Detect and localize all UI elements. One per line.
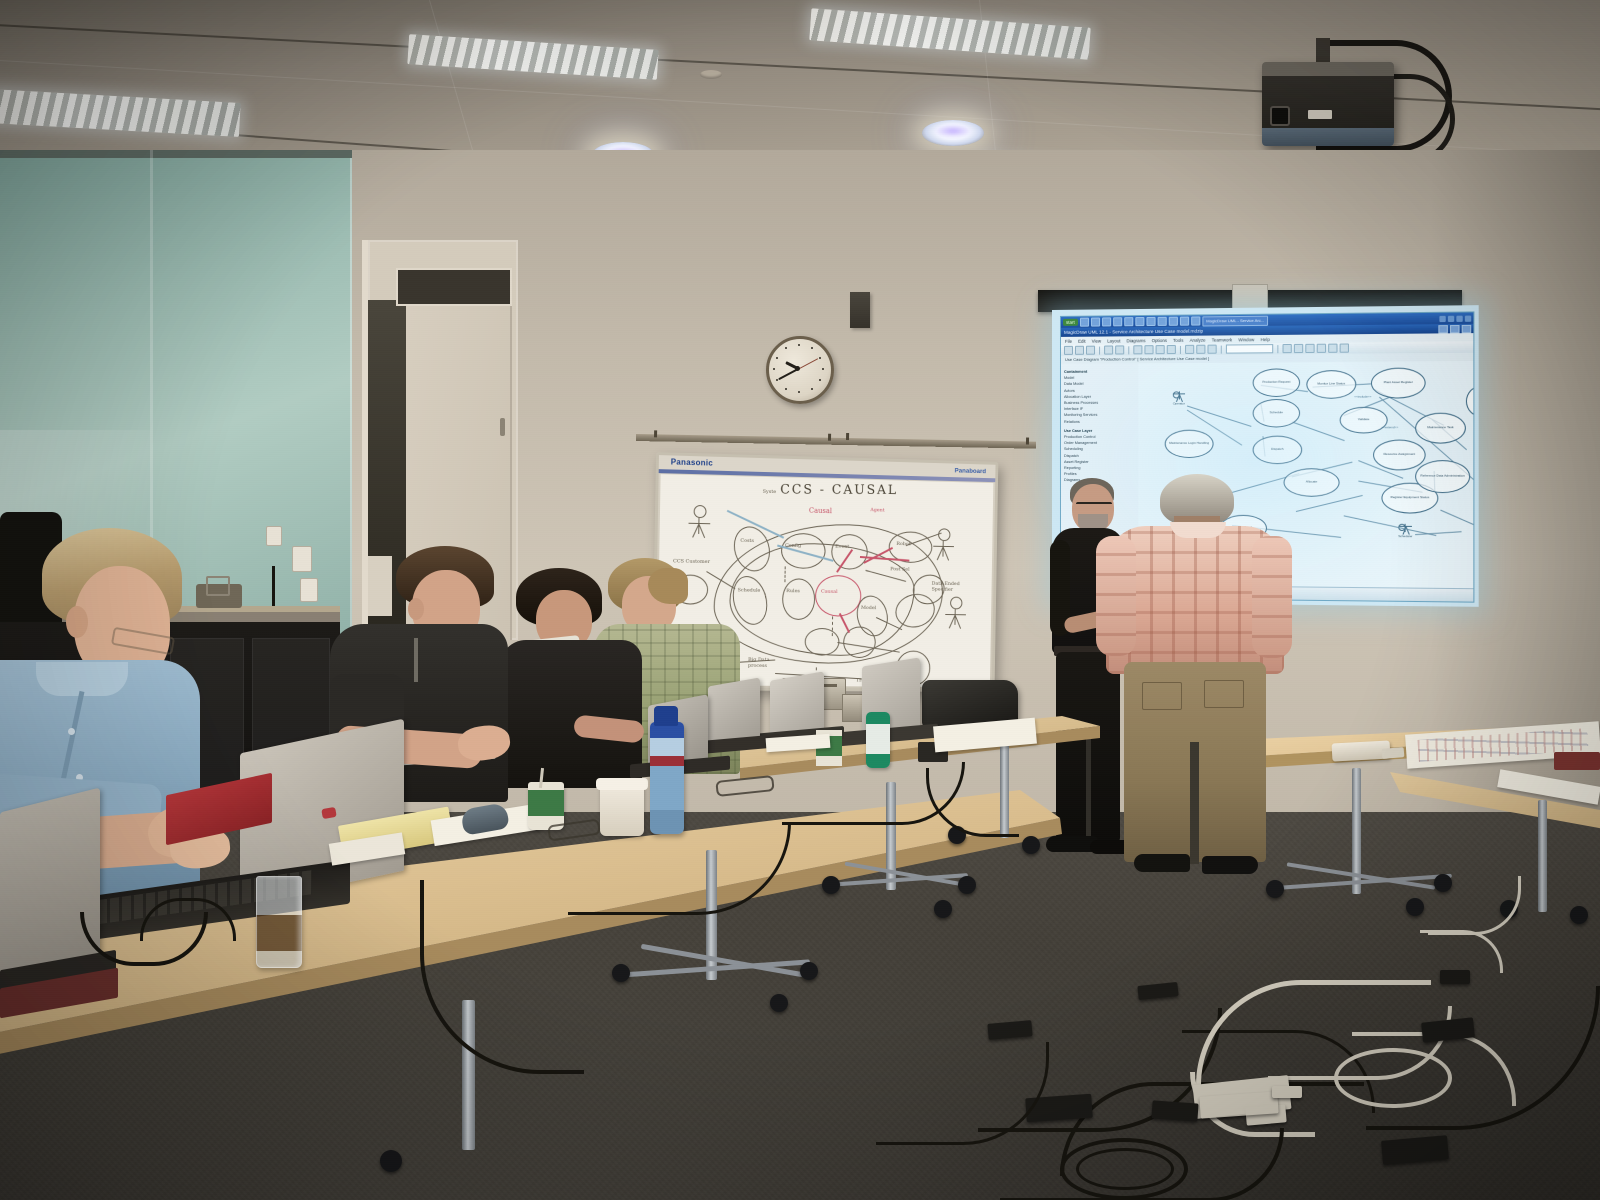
uml-use-case[interactable]: Report bbox=[1466, 386, 1473, 417]
uml-use-case[interactable]: Dispatch bbox=[1253, 436, 1303, 465]
sketch-label-red: Agent bbox=[870, 507, 884, 513]
menu-item-window[interactable]: Window bbox=[1238, 337, 1254, 342]
sketch-actor bbox=[950, 597, 966, 630]
table-caster bbox=[822, 876, 840, 894]
wall-clock bbox=[766, 336, 834, 404]
quicklaunch-icon[interactable] bbox=[1113, 317, 1122, 326]
green-drink-bottle[interactable] bbox=[866, 712, 890, 768]
cut-icon[interactable] bbox=[1133, 345, 1142, 354]
use-case-label: Dispatch bbox=[1271, 448, 1283, 452]
window-title: MagicDraw UML 12.1 - Service Architectur… bbox=[1064, 329, 1203, 335]
quicklaunch-icon[interactable] bbox=[1102, 317, 1111, 326]
sketch-label: Robot bbox=[896, 541, 910, 547]
table-caster bbox=[800, 962, 818, 980]
menu-item-help[interactable]: Help bbox=[1261, 337, 1270, 342]
window-controls[interactable] bbox=[1438, 325, 1471, 334]
quicklaunch-icon[interactable] bbox=[1146, 317, 1155, 326]
uml-use-case[interactable]: Maintenance Login Handling bbox=[1165, 430, 1214, 458]
undo-icon[interactable] bbox=[1104, 345, 1113, 354]
meeting-room-photo: start MagicDraw UML - Service Arc... bbox=[0, 0, 1600, 1200]
wall-socket[interactable] bbox=[266, 526, 282, 546]
use-case-label: Reference Data Administration bbox=[1420, 475, 1464, 479]
redo-icon[interactable] bbox=[1115, 345, 1124, 354]
menu-item-teamwork[interactable]: Teamwork bbox=[1212, 337, 1232, 342]
print-icon[interactable] bbox=[1340, 343, 1349, 352]
torso-black-vneck bbox=[500, 640, 642, 788]
whiteboard-sketch-title: CCS - CAUSAL bbox=[780, 483, 898, 498]
sketch-label: Event bbox=[835, 544, 849, 550]
power-plug bbox=[1382, 747, 1405, 759]
uml-use-case[interactable]: Reference Data Administration bbox=[1415, 460, 1470, 493]
line-style-icon[interactable] bbox=[1283, 344, 1292, 353]
uml-actor[interactable]: Operator bbox=[1173, 391, 1185, 405]
minimize-icon[interactable] bbox=[1438, 325, 1448, 333]
copy-icon[interactable] bbox=[1144, 345, 1153, 354]
arm-left bbox=[1096, 536, 1136, 656]
zoom-out-icon[interactable] bbox=[1196, 345, 1205, 354]
uml-use-case[interactable]: Plant Asset Register bbox=[1371, 368, 1426, 399]
menu-item-diagrams[interactable]: Diagrams bbox=[1127, 338, 1146, 343]
tray-icon[interactable] bbox=[1448, 315, 1454, 321]
tray-icon[interactable] bbox=[1465, 315, 1471, 321]
menu-item-edit[interactable]: Edit bbox=[1078, 338, 1086, 343]
menu-item-analyze[interactable]: Analyze bbox=[1190, 337, 1206, 342]
glass-partition-head-rail bbox=[0, 150, 352, 158]
toolbar-separator bbox=[1221, 345, 1222, 353]
fluorescent-troffer bbox=[0, 89, 241, 137]
grid-icon[interactable] bbox=[1328, 344, 1337, 353]
tray-icon[interactable] bbox=[1456, 315, 1462, 321]
ceiling-downlight bbox=[922, 120, 984, 146]
toolbar-separator bbox=[1128, 346, 1129, 354]
table-caster bbox=[612, 964, 630, 982]
menu-item-view[interactable]: View bbox=[1092, 338, 1101, 343]
trouser-pocket bbox=[1204, 680, 1244, 708]
zoom-in-icon[interactable] bbox=[1185, 345, 1194, 354]
sketch-dashed bbox=[832, 616, 835, 636]
fill-color-icon[interactable] bbox=[1294, 344, 1303, 353]
table-caster bbox=[770, 994, 788, 1012]
sketch-label: Rules bbox=[786, 588, 800, 594]
power-adapter bbox=[1151, 1100, 1198, 1121]
sketch-actor bbox=[693, 505, 710, 539]
use-case-label: Plant Asset Register bbox=[1384, 381, 1413, 385]
sketch-label: Syste bbox=[763, 489, 777, 495]
door-transom-window bbox=[396, 268, 512, 306]
uml-actor-label: Scheduler bbox=[1398, 534, 1412, 538]
floor-connector bbox=[1272, 1086, 1302, 1098]
sketch-label: Post Sel bbox=[890, 566, 909, 572]
sketch-dashed bbox=[784, 566, 787, 582]
sketch-label-red: Causal bbox=[821, 589, 838, 595]
fluorescent-troffer bbox=[809, 8, 1091, 59]
table-leg bbox=[1538, 800, 1547, 912]
menu-item-layout[interactable]: Layout bbox=[1107, 338, 1120, 343]
close-icon[interactable] bbox=[1462, 325, 1472, 333]
table-caster bbox=[934, 900, 952, 918]
toolbar-separator bbox=[1099, 346, 1100, 354]
quicklaunch-icon[interactable] bbox=[1135, 317, 1144, 326]
quicklaunch-icon[interactable] bbox=[1124, 317, 1133, 326]
ear bbox=[408, 598, 424, 620]
system-tray[interactable] bbox=[1439, 315, 1471, 322]
shoe bbox=[1134, 854, 1190, 872]
menu-item-options[interactable]: Options bbox=[1152, 337, 1167, 342]
table-caster bbox=[1022, 836, 1040, 854]
wall-speaker bbox=[850, 292, 870, 328]
start-button[interactable]: start bbox=[1063, 319, 1078, 326]
use-case-label: Register Equipment Status bbox=[1390, 496, 1429, 500]
shoe bbox=[1202, 856, 1258, 874]
polo-placket bbox=[414, 638, 418, 682]
font-icon[interactable] bbox=[1305, 344, 1314, 353]
toolbar-separator bbox=[1180, 345, 1181, 353]
uml-use-case[interactable]: Schedule bbox=[1253, 399, 1301, 428]
hair-fringe bbox=[648, 568, 688, 604]
use-case-label: Allocate bbox=[1306, 481, 1317, 485]
align-icon[interactable] bbox=[1317, 344, 1326, 353]
table-caster bbox=[958, 876, 976, 894]
laptop-lid[interactable] bbox=[0, 788, 100, 983]
sketch-label-red: Causal bbox=[809, 508, 832, 514]
standing-presenter-plaid-shirt bbox=[1096, 474, 1292, 904]
delete-icon[interactable] bbox=[1167, 345, 1176, 354]
fit-page-icon[interactable] bbox=[1207, 345, 1216, 354]
taskbar-window-button[interactable]: MagicDraw UML - Service Arc... bbox=[1202, 315, 1268, 326]
sketch-label: Schedule bbox=[737, 587, 760, 593]
quicklaunch-icon[interactable] bbox=[1169, 317, 1178, 326]
floor-cable-coil bbox=[1076, 1148, 1174, 1190]
use-case-label: Resource Assignment bbox=[1383, 453, 1415, 457]
use-case-label: Maintenance Task bbox=[1427, 426, 1453, 430]
tree-item[interactable]: Relations bbox=[1064, 418, 1140, 424]
table-caster bbox=[1406, 898, 1424, 916]
use-case-label: Maintenance Login Handling bbox=[1169, 442, 1209, 446]
toolbar-separator bbox=[1277, 345, 1278, 353]
fluorescent-troffer bbox=[407, 34, 658, 80]
uml-actor-label: Operator bbox=[1173, 401, 1185, 405]
blue-water-bottle[interactable] bbox=[650, 722, 684, 834]
relationship-label: <<extend>> bbox=[1381, 425, 1398, 429]
table-caster bbox=[1570, 906, 1588, 924]
ear bbox=[66, 606, 88, 638]
leg-gap bbox=[1086, 736, 1091, 842]
cup-lid bbox=[596, 778, 648, 790]
projector-lens-icon bbox=[1270, 106, 1290, 126]
quicklaunch-icon[interactable] bbox=[1180, 317, 1189, 326]
sketch-label: Costs bbox=[740, 538, 754, 544]
relationship-label: <<include>> bbox=[1354, 395, 1371, 399]
menu-item-file[interactable]: File bbox=[1065, 338, 1072, 343]
printed-paper-cup[interactable] bbox=[528, 782, 564, 830]
door-handle[interactable] bbox=[500, 418, 505, 436]
projector-label bbox=[1308, 110, 1332, 119]
panasonic-logo: Panasonic bbox=[671, 457, 713, 467]
shirt-collar bbox=[1170, 522, 1226, 538]
uml-use-case[interactable]: Maintenance Task bbox=[1415, 413, 1466, 444]
use-case-label: Schedule bbox=[1270, 411, 1283, 415]
menu-item-tools[interactable]: Tools bbox=[1173, 337, 1183, 342]
use-case-label: Validate bbox=[1358, 418, 1369, 422]
new-file-icon[interactable] bbox=[1064, 346, 1073, 355]
style-combobox[interactable] bbox=[1226, 344, 1273, 354]
smoke-detector-icon bbox=[700, 70, 722, 79]
uml-use-case[interactable]: Monitor Line Status bbox=[1306, 370, 1356, 399]
trouser-pocket bbox=[1142, 682, 1182, 710]
quicklaunch-icon[interactable] bbox=[1091, 317, 1100, 326]
use-case-label: Monitor Line Status bbox=[1317, 383, 1345, 387]
paste-icon[interactable] bbox=[1156, 345, 1165, 354]
tray-icon[interactable] bbox=[1439, 315, 1445, 321]
arm-right bbox=[1252, 536, 1292, 658]
sketch-label: Big Data process bbox=[748, 657, 787, 669]
table-caster bbox=[380, 1150, 402, 1172]
quicklaunch-icon[interactable] bbox=[1157, 317, 1166, 326]
drinking-glass[interactable] bbox=[256, 876, 302, 968]
sketch-label: Config bbox=[785, 543, 801, 549]
save-icon[interactable] bbox=[1086, 346, 1095, 355]
uml-use-case[interactable]: Resource Assignment bbox=[1373, 440, 1426, 471]
use-case-label: Production Request bbox=[1262, 381, 1290, 385]
leg-gap bbox=[1190, 742, 1199, 864]
quicklaunch-icon[interactable] bbox=[1191, 316, 1200, 325]
maximize-icon[interactable] bbox=[1450, 325, 1460, 333]
ceiling-projector bbox=[1262, 62, 1394, 146]
bottle-cap[interactable] bbox=[654, 706, 678, 726]
red-object bbox=[1554, 752, 1600, 770]
quicklaunch-icon[interactable] bbox=[1080, 318, 1089, 327]
open-folder-icon[interactable] bbox=[1075, 346, 1084, 355]
seated-participant-black-vneck bbox=[500, 568, 646, 788]
sketch-label: Model bbox=[861, 605, 876, 611]
clock-second-hand bbox=[798, 358, 818, 369]
uml-use-case[interactable]: Production Request bbox=[1253, 368, 1301, 397]
uml-actor[interactable]: Scheduler bbox=[1398, 524, 1412, 538]
panaboard-logo: Panaboard bbox=[955, 467, 987, 475]
shirt-button bbox=[68, 728, 75, 735]
floor-cable-coil-white bbox=[1334, 1048, 1452, 1108]
uml-use-case[interactable]: Validate bbox=[1340, 407, 1388, 434]
